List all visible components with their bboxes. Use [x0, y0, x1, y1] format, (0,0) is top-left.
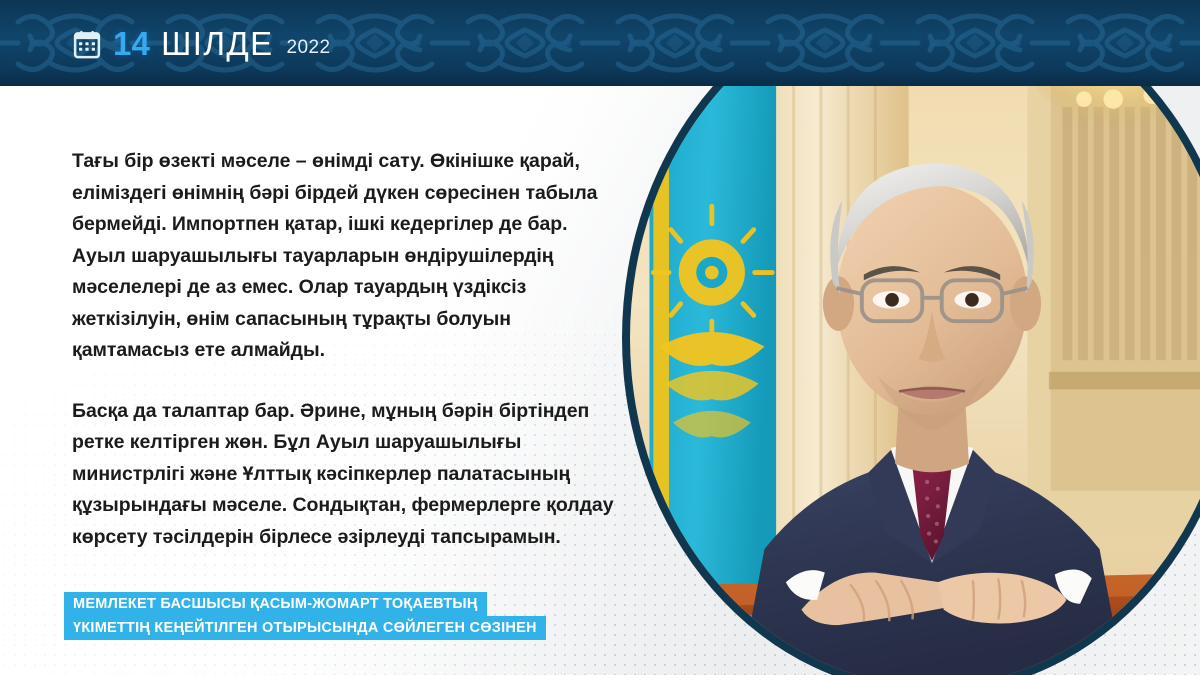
president-portrait [622, 0, 1200, 675]
portrait-artwork [630, 0, 1200, 675]
caption-line-1: МЕМЛЕКЕТ БАСШЫСЫ ҚАСЫМ-ЖОМАРТ ТОҚАЕВТЫҢ [64, 592, 487, 616]
quote-paragraph-1: Тағы бір өзекті мәселе – өнімді сату. Өк… [72, 146, 617, 367]
source-caption: МЕМЛЕКЕТ БАСШЫСЫ ҚАСЫМ-ЖОМАРТ ТОҚАЕВТЫҢ … [64, 592, 546, 640]
header-date-group: 14 ШІЛДЕ 2022 [72, 0, 330, 86]
caption-line-2: ҮКІМЕТТІҢ КЕҢЕЙТІЛГЕН ОТЫРЫСЫНДА СӨЙЛЕГЕ… [64, 616, 546, 640]
header-date-month: ШІЛДЕ [161, 27, 273, 60]
portrait-frame-ring [622, 0, 1200, 675]
quote-paragraph-2: Басқа да талаптар бар. Әрине, мұның бәрі… [72, 396, 617, 554]
header-date-year: 2022 [287, 38, 331, 57]
header-bar: 14 ШІЛДЕ 2022 [0, 0, 1200, 86]
portrait-circle-mask [630, 0, 1200, 675]
quote-text-block: Тағы бір өзекті мәселе – өнімді сату. Өк… [72, 146, 617, 553]
header-date-day: 14 [113, 27, 150, 60]
poster-root: 14 ШІЛДЕ 2022 Тағы бір өзекті мәселе – ө… [0, 0, 1200, 675]
calendar-icon [72, 29, 102, 59]
